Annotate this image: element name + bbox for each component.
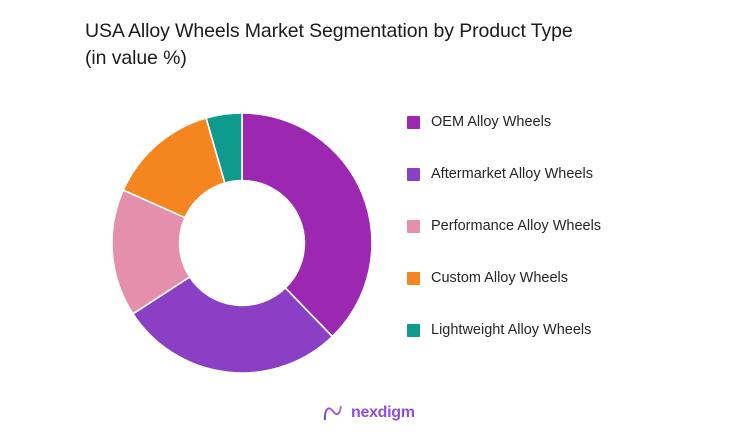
- legend-item[interactable]: Aftermarket Alloy Wheels: [407, 148, 717, 200]
- donut-slice-group: [112, 113, 372, 373]
- legend-label: Performance Alloy Wheels: [431, 217, 601, 235]
- brand-name: nexdigm: [351, 403, 415, 423]
- chart-title: USA Alloy Wheels Market Segmentation by …: [85, 18, 685, 72]
- legend-item[interactable]: Lightweight Alloy Wheels: [407, 304, 717, 356]
- legend-label: OEM Alloy Wheels: [431, 113, 551, 131]
- donut-chart-svg: [111, 112, 373, 374]
- legend-swatch: [407, 220, 420, 233]
- legend-label: Lightweight Alloy Wheels: [431, 321, 591, 339]
- donut-chart: [111, 112, 373, 374]
- legend-swatch: [407, 324, 420, 337]
- legend-item[interactable]: Custom Alloy Wheels: [407, 252, 717, 304]
- nexdigm-n-mark-icon: [322, 403, 344, 423]
- chart-figure: USA Alloy Wheels Market Segmentation by …: [0, 0, 742, 436]
- chart-legend: OEM Alloy WheelsAftermarket Alloy Wheels…: [407, 96, 717, 356]
- legend-swatch: [407, 116, 420, 129]
- legend-swatch: [407, 168, 420, 181]
- legend-item[interactable]: OEM Alloy Wheels: [407, 96, 717, 148]
- legend-swatch: [407, 272, 420, 285]
- legend-item[interactable]: Performance Alloy Wheels: [407, 200, 717, 252]
- legend-label: Custom Alloy Wheels: [431, 269, 568, 287]
- brand-logo: nexdigm: [322, 402, 415, 424]
- legend-label: Aftermarket Alloy Wheels: [431, 165, 593, 183]
